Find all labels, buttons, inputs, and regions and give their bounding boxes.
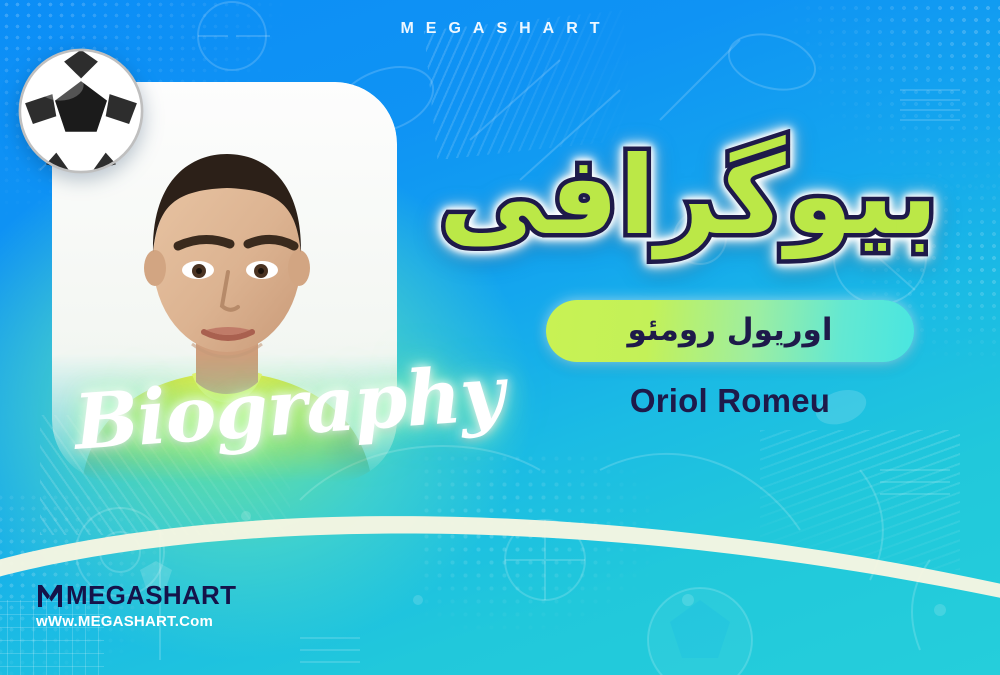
top-brand-label: MEGASHART xyxy=(0,20,1000,38)
player-name-pill: اوریول رومئو xyxy=(546,300,914,362)
footer-logo-word: MEGASHART xyxy=(66,580,236,611)
footer-logo[interactable]: MEGASHART wWw.MEGASHART.Com xyxy=(36,580,236,630)
footer-logo-row: MEGASHART xyxy=(36,580,236,611)
curved-swoosh-divider xyxy=(0,470,1000,675)
megashart-m-mark-icon xyxy=(36,583,64,609)
soccer-ball-icon xyxy=(16,46,146,176)
biography-poster: MEGASHART xyxy=(0,0,1000,675)
player-name-fa: اوریول رومئو xyxy=(628,312,833,348)
page-title-fa: بیوگرافی xyxy=(439,133,938,260)
footer-logo-url: wWw.MEGASHART.Com xyxy=(36,613,236,630)
player-name-en: Oriol Romeu xyxy=(546,382,914,420)
